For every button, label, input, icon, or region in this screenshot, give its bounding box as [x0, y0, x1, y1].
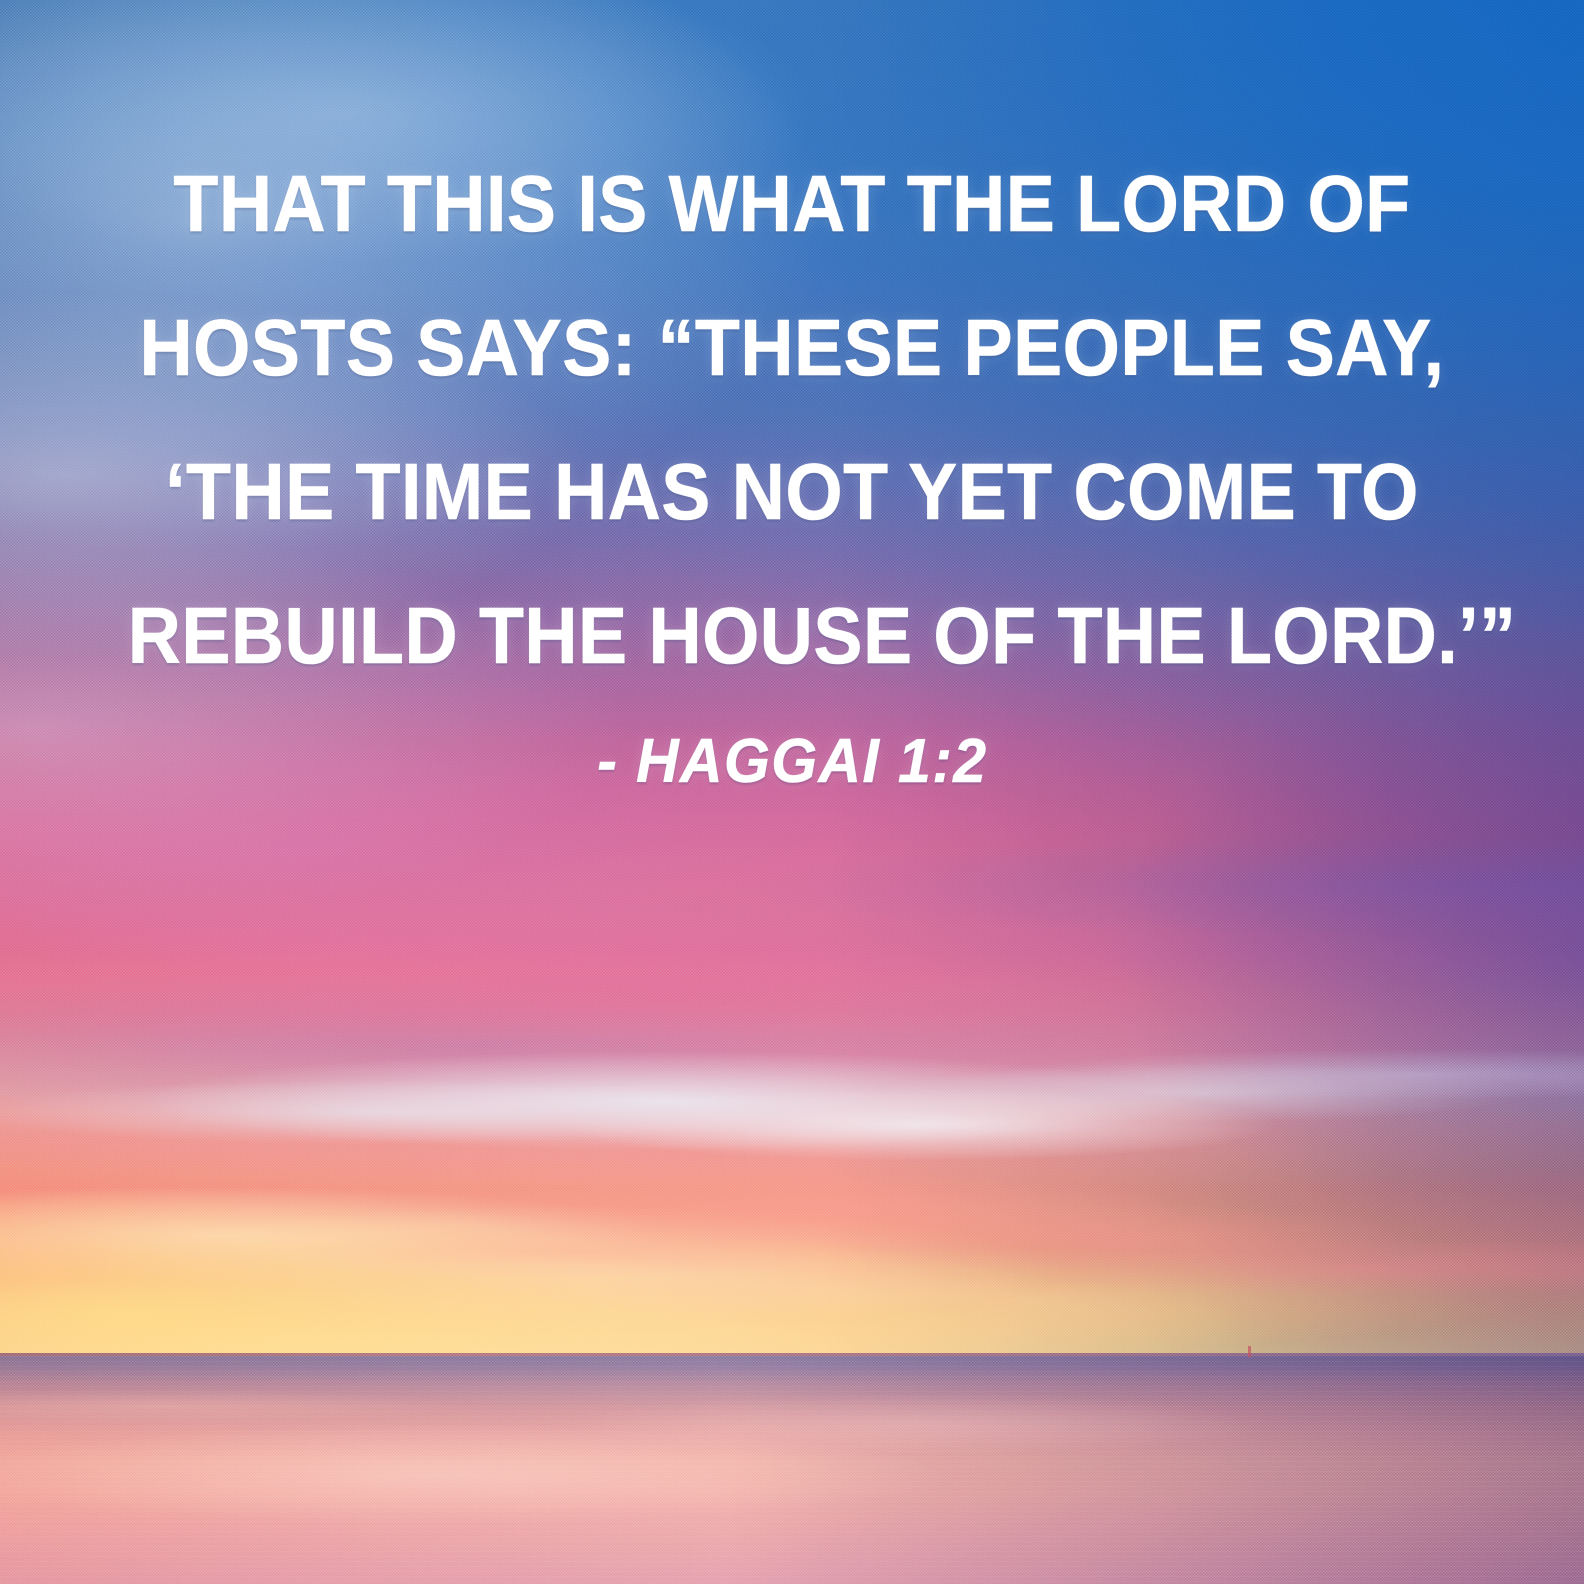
- verse-line-2: hosts says: “These people say,: [128, 276, 1456, 420]
- sea-right-tint: [0, 1356, 1584, 1584]
- distant-marker-icon: [1248, 1346, 1251, 1357]
- verse-reference-label: - Haggai 1:2: [597, 726, 987, 798]
- verse-attribution: - Haggai 1:2: [0, 726, 1584, 798]
- horizon-line: [0, 1353, 1584, 1356]
- sea-surface: [0, 1356, 1584, 1584]
- verse-quote-block: that this is what the Lord of hosts says…: [0, 132, 1584, 708]
- sea-reflection: [0, 1356, 1584, 1584]
- verse-line-1: that this is what the Lord of: [128, 132, 1456, 276]
- verse-line-3: ‘The time has not yet come to: [128, 420, 1456, 564]
- verse-image-canvas: that this is what the Lord of hosts says…: [0, 0, 1584, 1584]
- verse-line-4: rebuild the house of the Lord.’”: [128, 564, 1456, 708]
